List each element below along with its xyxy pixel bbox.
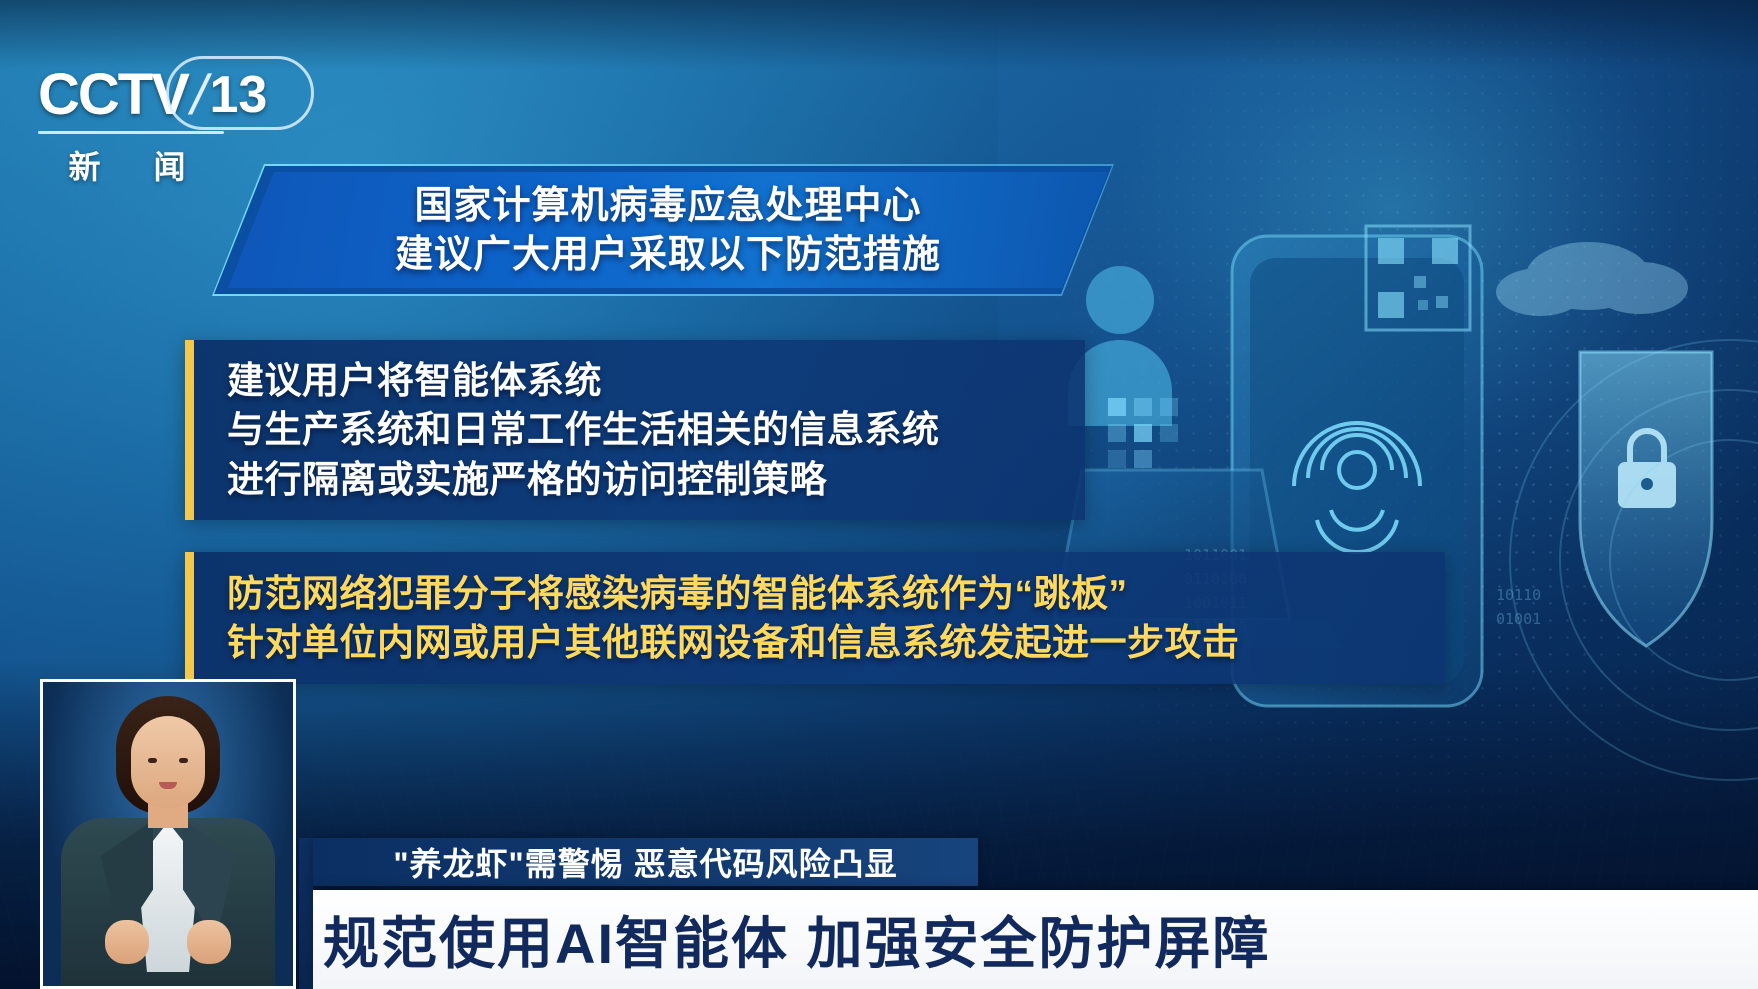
channel-logo: CCTV / 13 新 闻	[38, 62, 298, 188]
panel-1-accent-bar	[185, 340, 194, 520]
logo-ring-decor	[166, 56, 314, 130]
lower-third-title-bar: 规范使用AI智能体 加强安全防护屏障	[313, 890, 1758, 989]
anchor-video-feed	[43, 682, 293, 986]
lower-third-left-cap	[299, 838, 313, 989]
panel-2-text: 防范网络犯罪分子将感染病毒的智能体系统作为“跳板” 针对单位内网或用户其他联网设…	[227, 552, 1429, 684]
panel-1-text: 建议用户将智能体系统 与生产系统和日常工作生活相关的信息系统 进行隔离或实施严格…	[227, 340, 1069, 520]
logo-subtitle: 新 闻	[38, 142, 238, 188]
anchor-mouth	[159, 782, 177, 789]
panel-1-line-1: 建议用户将智能体系统	[227, 356, 1069, 405]
panel-2-line-1: 防范网络犯罪分子将感染病毒的智能体系统作为“跳板”	[227, 569, 1429, 618]
panel-1-line-2: 与生产系统和日常工作生活相关的信息系统	[227, 405, 1069, 454]
headline-banner-line-1: 国家计算机病毒应急处理中心	[414, 182, 921, 231]
lower-third-title: 规范使用AI智能体 加强安全防护屏障	[313, 899, 1271, 980]
anchor-hand-right	[187, 920, 231, 964]
panel-1-line-3: 进行隔离或实施严格的访问控制策略	[227, 455, 1069, 504]
broadcast-screenshot: 1011001 0110100 1001011 0101110 10110 01…	[0, 0, 1758, 989]
anchor-video-window	[40, 679, 296, 989]
advice-panel-1: 建议用户将智能体系统 与生产系统和日常工作生活相关的信息系统 进行隔离或实施严格…	[185, 340, 1085, 520]
anchor-face	[131, 716, 205, 808]
headline-banner: 国家计算机病毒应急处理中心 建议广大用户采取以下防范措施	[228, 176, 1108, 286]
lower-third-subtitle: "养龙虾"需警惕 恶意代码风险凸显	[393, 839, 897, 885]
anchor-eye-right	[179, 758, 188, 763]
anchor-eye-left	[148, 758, 157, 763]
panel-2-accent-bar	[185, 552, 194, 684]
lower-third-subtitle-bar: "养龙虾"需警惕 恶意代码风险凸显	[313, 838, 978, 886]
panel-2-line-2: 针对单位内网或用户其他联网设备和信息系统发起进一步攻击	[227, 618, 1429, 667]
logo-underline-decor	[38, 131, 224, 134]
anchor-hand-left	[105, 920, 149, 964]
advice-panel-2: 防范网络犯罪分子将感染病毒的智能体系统作为“跳板” 针对单位内网或用户其他联网设…	[185, 552, 1445, 684]
headline-banner-line-2: 建议广大用户采取以下防范措施	[395, 231, 941, 280]
